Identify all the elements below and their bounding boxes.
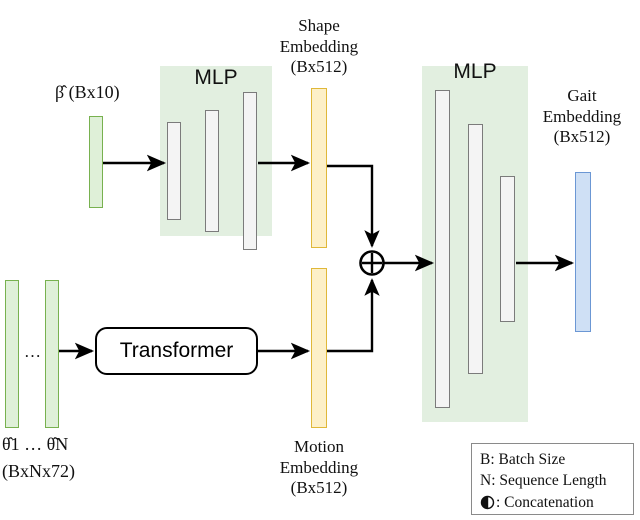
legend-batch-size-text: B: Batch Size [480,449,565,470]
mlp-left-layer-1 [167,122,181,220]
wire-shape-embedding-to-concat [327,166,372,246]
mlp-right-layer-1 [435,90,450,408]
concatenation-icon [480,495,495,510]
gait-embedding-bar [575,172,591,332]
legend-row-sequence-length: N: Sequence Length [480,470,625,491]
mlp-right-layer-2 [468,124,483,374]
motion-embedding-label: Motion Embedding (Bx512) [249,437,389,499]
motion-input-shape-label: (BxNx72) [2,461,122,482]
shape-input-label: β̂ (Bx10) [55,82,175,103]
concat-node-circle [361,252,384,275]
shape-embedding-label: Shape Embedding (Bx512) [249,16,389,78]
motion-input-bar-1 [5,280,19,428]
gait-embedding-label: Gait Embedding (Bx512) [524,86,640,148]
motion-input-ellipsis: … [22,342,44,362]
mlp-right-title: MLP [422,60,528,84]
legend-sequence-length-text: N: Sequence Length [480,470,607,491]
legend-box: B: Batch Size N: Sequence Length : Conca… [471,443,634,515]
mlp-left-layer-3 [243,92,257,250]
shape-embedding-bar [311,88,327,248]
shape-input-bar [89,116,103,208]
motion-embedding-bar [311,268,327,428]
transformer-block[interactable]: Transformer [95,327,258,375]
diagram-canvas: MLP MLP β̂ (Bx10) … θ̂1 … θ̂N (BxNx72) T… [0,0,640,520]
motion-input-bar-n [45,280,59,428]
motion-input-label: θ̂1 … θ̂N [2,434,122,455]
mlp-left-layer-2 [205,110,219,232]
legend-row-batch-size: B: Batch Size [480,449,625,470]
legend-row-concatenation: : Concatenation [480,492,625,513]
legend-concatenation-text: : Concatenation [496,492,594,513]
wire-motion-embedding-to-concat [327,280,372,351]
mlp-right-layer-3 [500,176,515,322]
